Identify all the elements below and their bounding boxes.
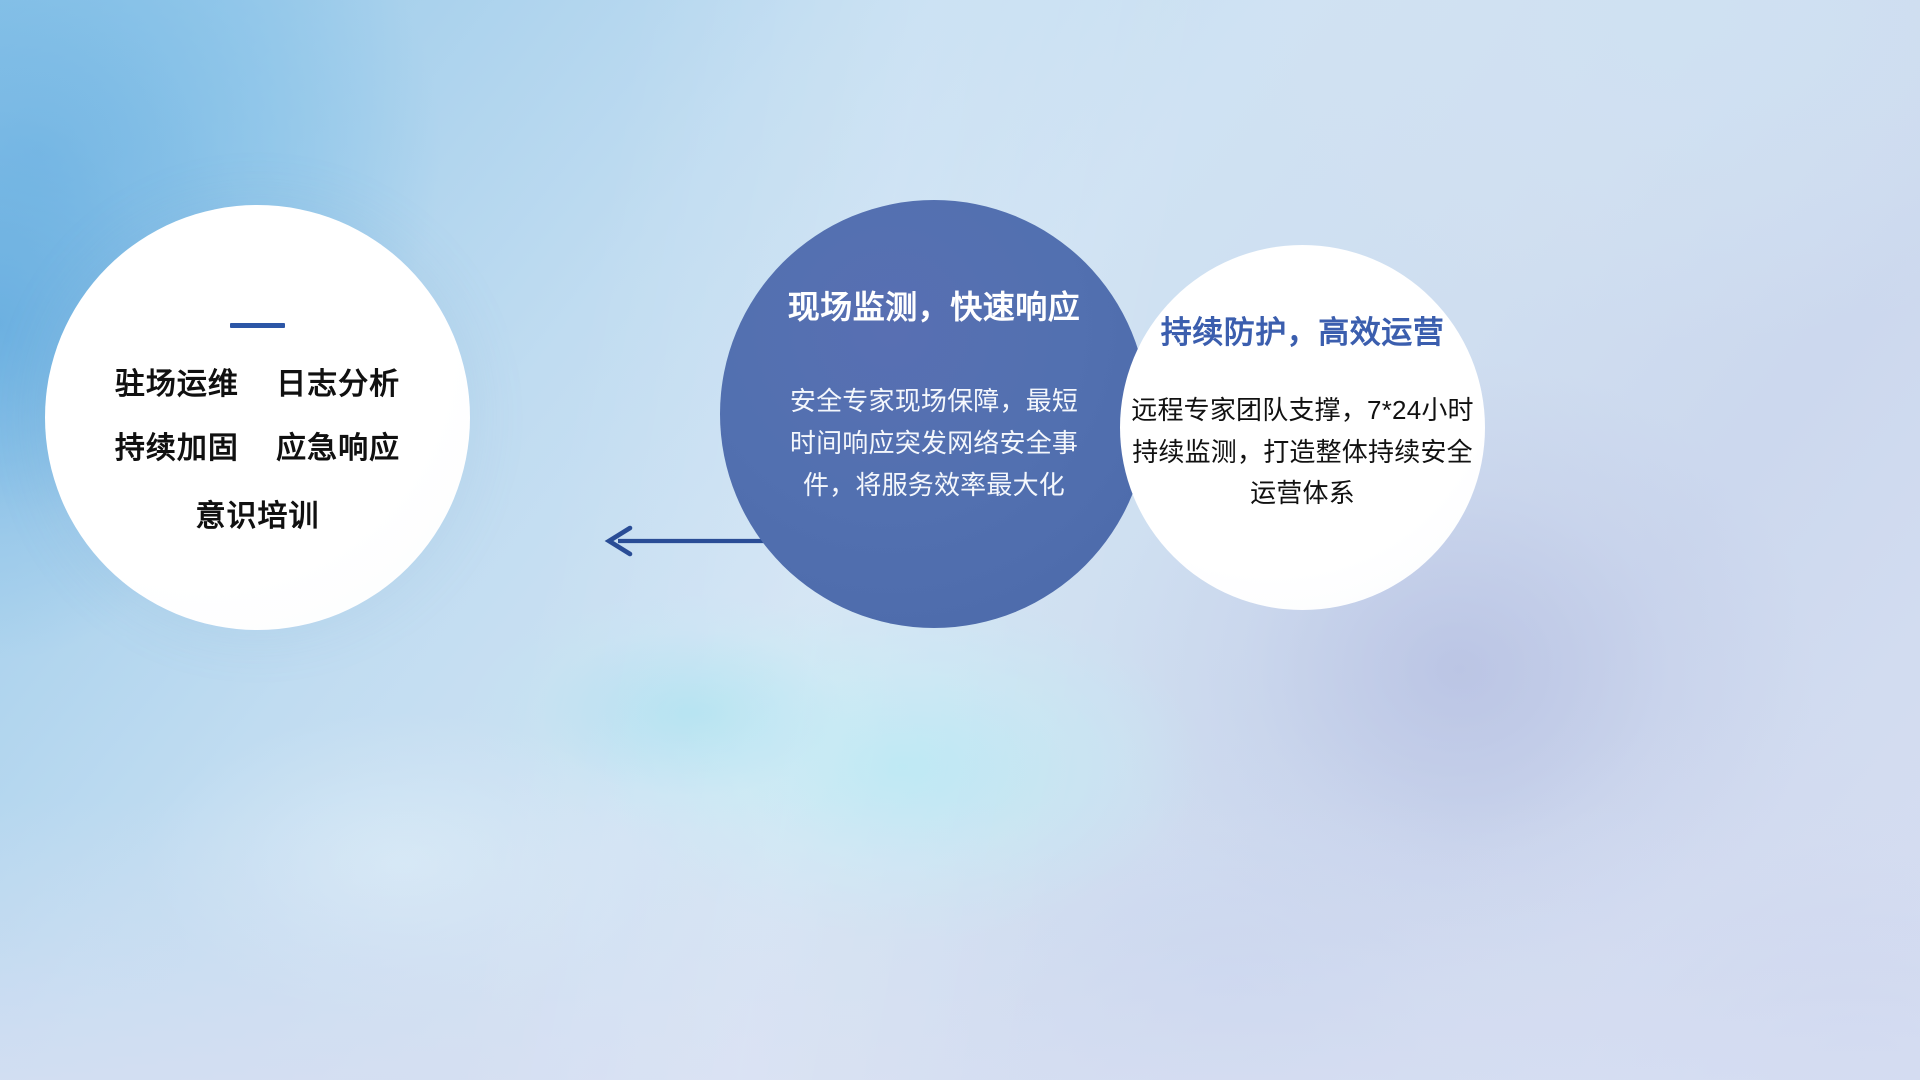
list-item: 意识培训 (45, 502, 470, 532)
list-item: 持续加固 应急响应 (45, 434, 470, 464)
capability-circle-right[interactable]: 持续防护，高效运营 远程专家团队支撑，7*24小时持续监测，打造整体持续安全运营… (1120, 245, 1485, 610)
capability-circle-left[interactable]: 驻场运维 日志分析 持续加固 应急响应 意识培训 (45, 205, 470, 630)
divider-dash (230, 323, 285, 328)
card-body: 安全专家现场保障，最短时间响应突发网络安全事件，将服务效率最大化 (779, 380, 1089, 506)
card-body: 远程专家团队支撑，7*24小时持续监测，打造整体持续安全运营体系 (1130, 390, 1475, 515)
card-title: 持续防护，高效运营 (1161, 307, 1445, 352)
capability-keyword-list: 驻场运维 日志分析 持续加固 应急响应 意识培训 (45, 370, 470, 532)
list-item: 驻场运维 日志分析 (45, 370, 470, 400)
slide-canvas: 驻场运维 日志分析 持续加固 应急响应 意识培训 现场监测，快速响应 安全专家现… (0, 0, 1920, 1080)
card-title: 现场监测，快速响应 (788, 282, 1081, 328)
capability-circle-middle[interactable]: 现场监测，快速响应 安全专家现场保障，最短时间响应突发网络安全事件，将服务效率最… (720, 200, 1148, 628)
